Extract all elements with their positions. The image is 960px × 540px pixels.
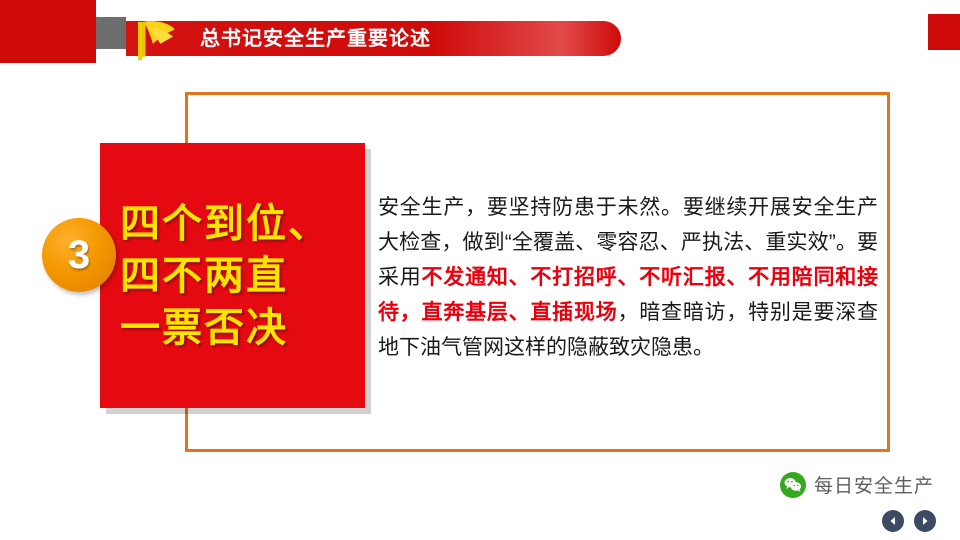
footer-brand: 每日安全生产 xyxy=(780,471,934,498)
headline-line-2: 四不两直 xyxy=(120,250,365,302)
headline-line-1: 四个到位、 xyxy=(120,198,365,250)
headline-lines: 四个到位、 四不两直 一票否决 xyxy=(100,143,365,408)
body-paragraph: 安全生产，要坚持防患于未然。要继续开展安全生产大检查，做到“全覆盖、零容忍、严执… xyxy=(378,190,878,365)
step-number-value: 3 xyxy=(42,218,116,292)
party-emblem-icon xyxy=(132,16,188,64)
slide-navigation[interactable] xyxy=(882,510,936,532)
wechat-icon xyxy=(780,472,806,498)
headline-box: 四个到位、 四不两直 一票否决 xyxy=(100,143,365,408)
footer-brand-label: 每日安全生产 xyxy=(814,471,934,498)
header-red-block-left xyxy=(0,0,96,63)
prev-slide-button[interactable] xyxy=(882,510,904,532)
step-number-badge: 3 xyxy=(42,218,116,292)
headline-line-3: 一票否决 xyxy=(120,302,365,354)
header-red-block-right xyxy=(928,14,960,50)
slide-canvas: 总书记安全生产重要论述 安全生产，要坚持防患于未然。要继续开展安全生产大检查，做… xyxy=(0,0,960,540)
next-slide-button[interactable] xyxy=(914,510,936,532)
header-grey-block xyxy=(96,17,126,49)
page-title: 总书记安全生产重要论述 xyxy=(200,25,620,53)
